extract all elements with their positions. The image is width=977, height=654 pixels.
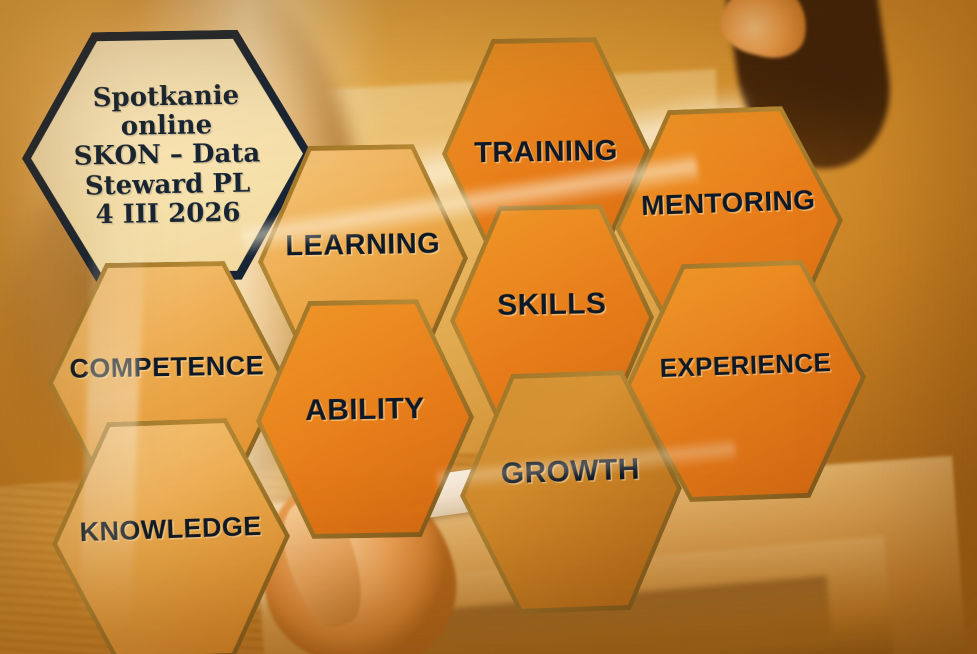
poster-canvas: Spotkanie online SKON – Data Steward PL … [0,0,977,654]
vignette [0,0,977,654]
